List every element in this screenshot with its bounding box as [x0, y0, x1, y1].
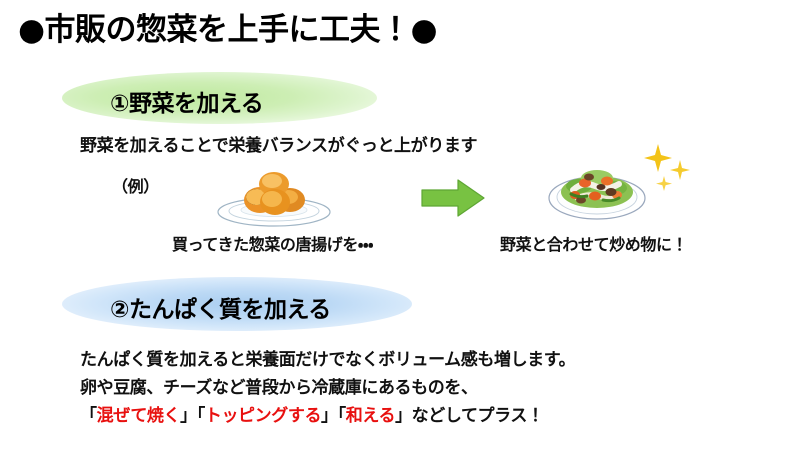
bracket-close-3: 」 [395, 406, 412, 426]
section-2-heading: ②たんぱく質を加える [110, 290, 331, 324]
section-1-before-caption: 買ってきた惣菜の唐揚げを・・・ [172, 231, 373, 255]
bracket-close-1: 」 [180, 406, 197, 426]
right-arrow-icon [420, 178, 486, 218]
fried-chicken-plate-illustration [212, 164, 337, 228]
section-2-text-line-2: 卵や豆腐、チーズなど普段から冷蔵庫にあるものを、 [80, 373, 478, 398]
sparkle-icon [638, 142, 694, 194]
highlight-phrase-3: 和える [346, 406, 395, 426]
bracket-open-1: 「 [80, 406, 97, 426]
bracket-open-2: 「 [197, 406, 205, 426]
page-title: ●市販の惣菜を上手に工夫！● [18, 10, 488, 50]
bracket-close-2: 」 [321, 406, 338, 426]
section-2-text-line-1: たんぱく質を加えると栄養面だけでなくボリューム感も増します。 [80, 345, 575, 370]
section-2-highlight-line: 「混ぜて焼く」「トッピングする」「和える」などしてプラス！ [80, 401, 544, 426]
highlight-phrase-1: 混ぜて焼く [97, 406, 181, 426]
bracket-open-3: 「 [338, 406, 346, 426]
section-1-after-caption: 野菜と合わせて炒め物に！ [500, 231, 687, 255]
highlight-phrase-2: トッピングする [205, 406, 321, 426]
section-1-example-label: （例） [112, 173, 159, 197]
vegetable-stirfry-plate-illustration [545, 150, 650, 222]
slide-canvas: ●市販の惣菜を上手に工夫！● ①野菜を加える 野菜を加えることで栄養バランスがぐ… [0, 0, 800, 450]
highlight-line-tail: などしてプラス！ [412, 406, 544, 426]
section-1-lead-text: 野菜を加えることで栄養バランスがぐっと上がります [80, 131, 477, 156]
section-1-heading: ①野菜を加える [110, 84, 263, 118]
